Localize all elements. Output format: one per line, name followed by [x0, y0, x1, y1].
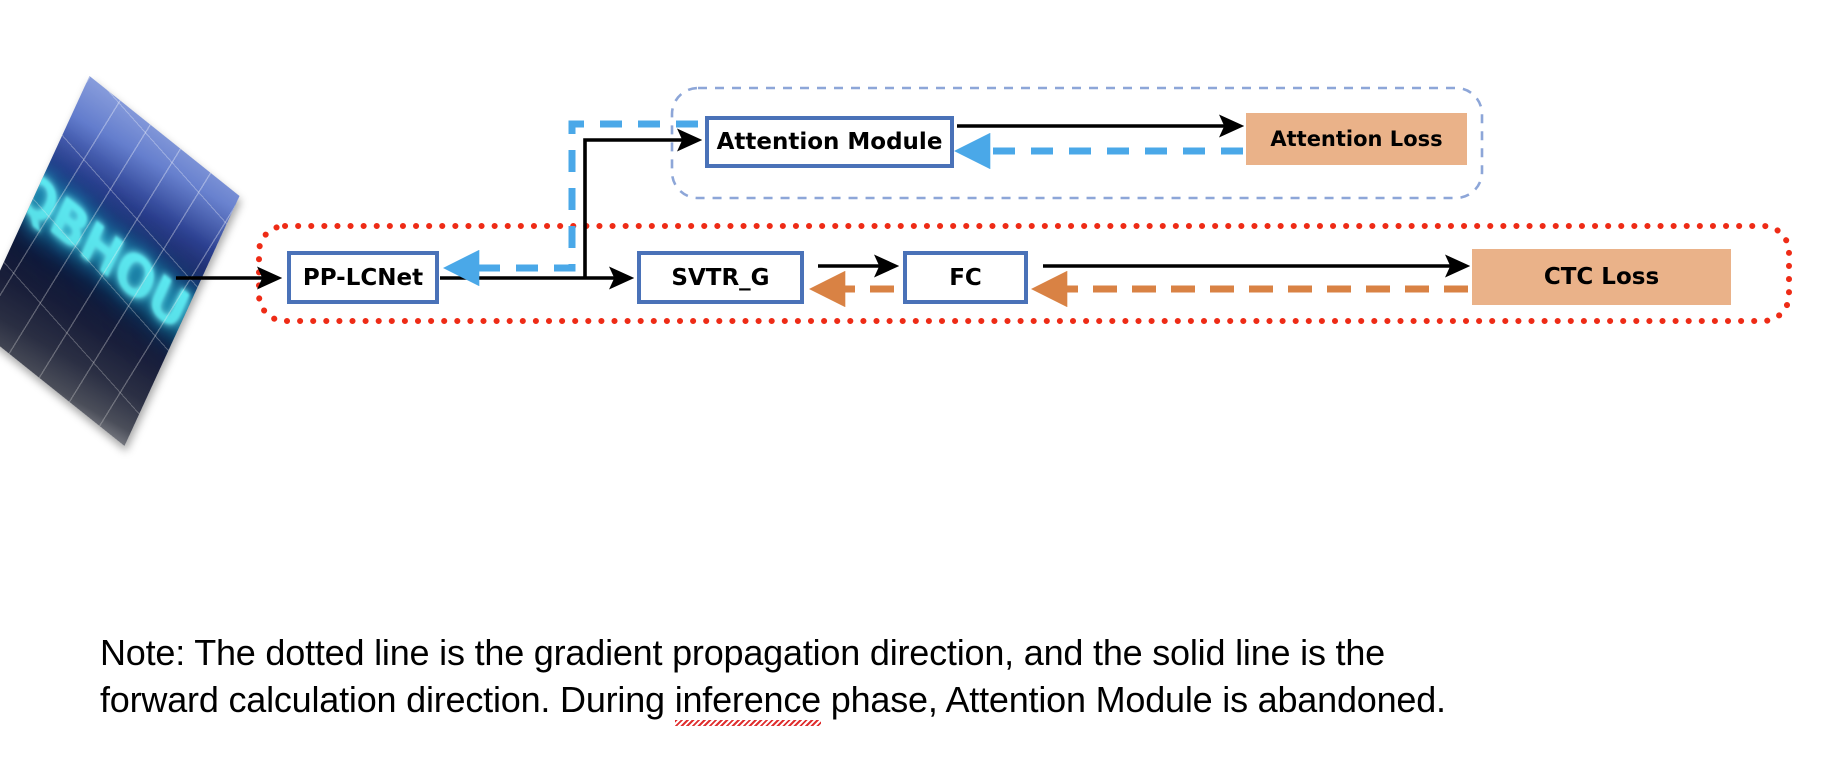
node-pp-lcnet-label: PP-LCNet	[303, 265, 423, 291]
note-caption: Note: The dotted line is the gradient pr…	[100, 630, 1800, 724]
edge-attention-module-gradient-to-pplcnet	[452, 124, 698, 268]
node-svtr-g[interactable]: SVTR_G	[637, 251, 804, 304]
node-svtr-g-label: SVTR_G	[671, 265, 769, 291]
node-ctc-loss-label: CTC Loss	[1544, 264, 1659, 290]
input-image-plate: QBHOUSE	[0, 76, 240, 446]
node-fc-label: FC	[949, 265, 982, 291]
node-pp-lcnet[interactable]: PP-LCNet	[287, 251, 439, 304]
note-spellcheck-word: inference	[675, 677, 821, 724]
node-attention-loss[interactable]: Attention Loss	[1246, 113, 1467, 165]
note-line-1: Note: The dotted line is the gradient pr…	[100, 632, 1385, 673]
node-attention-module[interactable]: Attention Module	[705, 116, 954, 168]
note-line-2-after: phase, Attention Module is abandoned.	[821, 679, 1446, 720]
input-text-image: QBHOUSE	[18, 96, 214, 432]
input-image-vignette	[0, 76, 240, 446]
node-attention-module-label: Attention Module	[717, 129, 943, 155]
diagram-canvas: QBHOUSE	[0, 0, 1848, 768]
note-line-2-before: forward calculation direction. During	[100, 679, 675, 720]
node-ctc-loss[interactable]: CTC Loss	[1472, 249, 1731, 305]
node-attention-loss-label: Attention Loss	[1270, 127, 1442, 151]
node-fc[interactable]: FC	[903, 251, 1028, 304]
